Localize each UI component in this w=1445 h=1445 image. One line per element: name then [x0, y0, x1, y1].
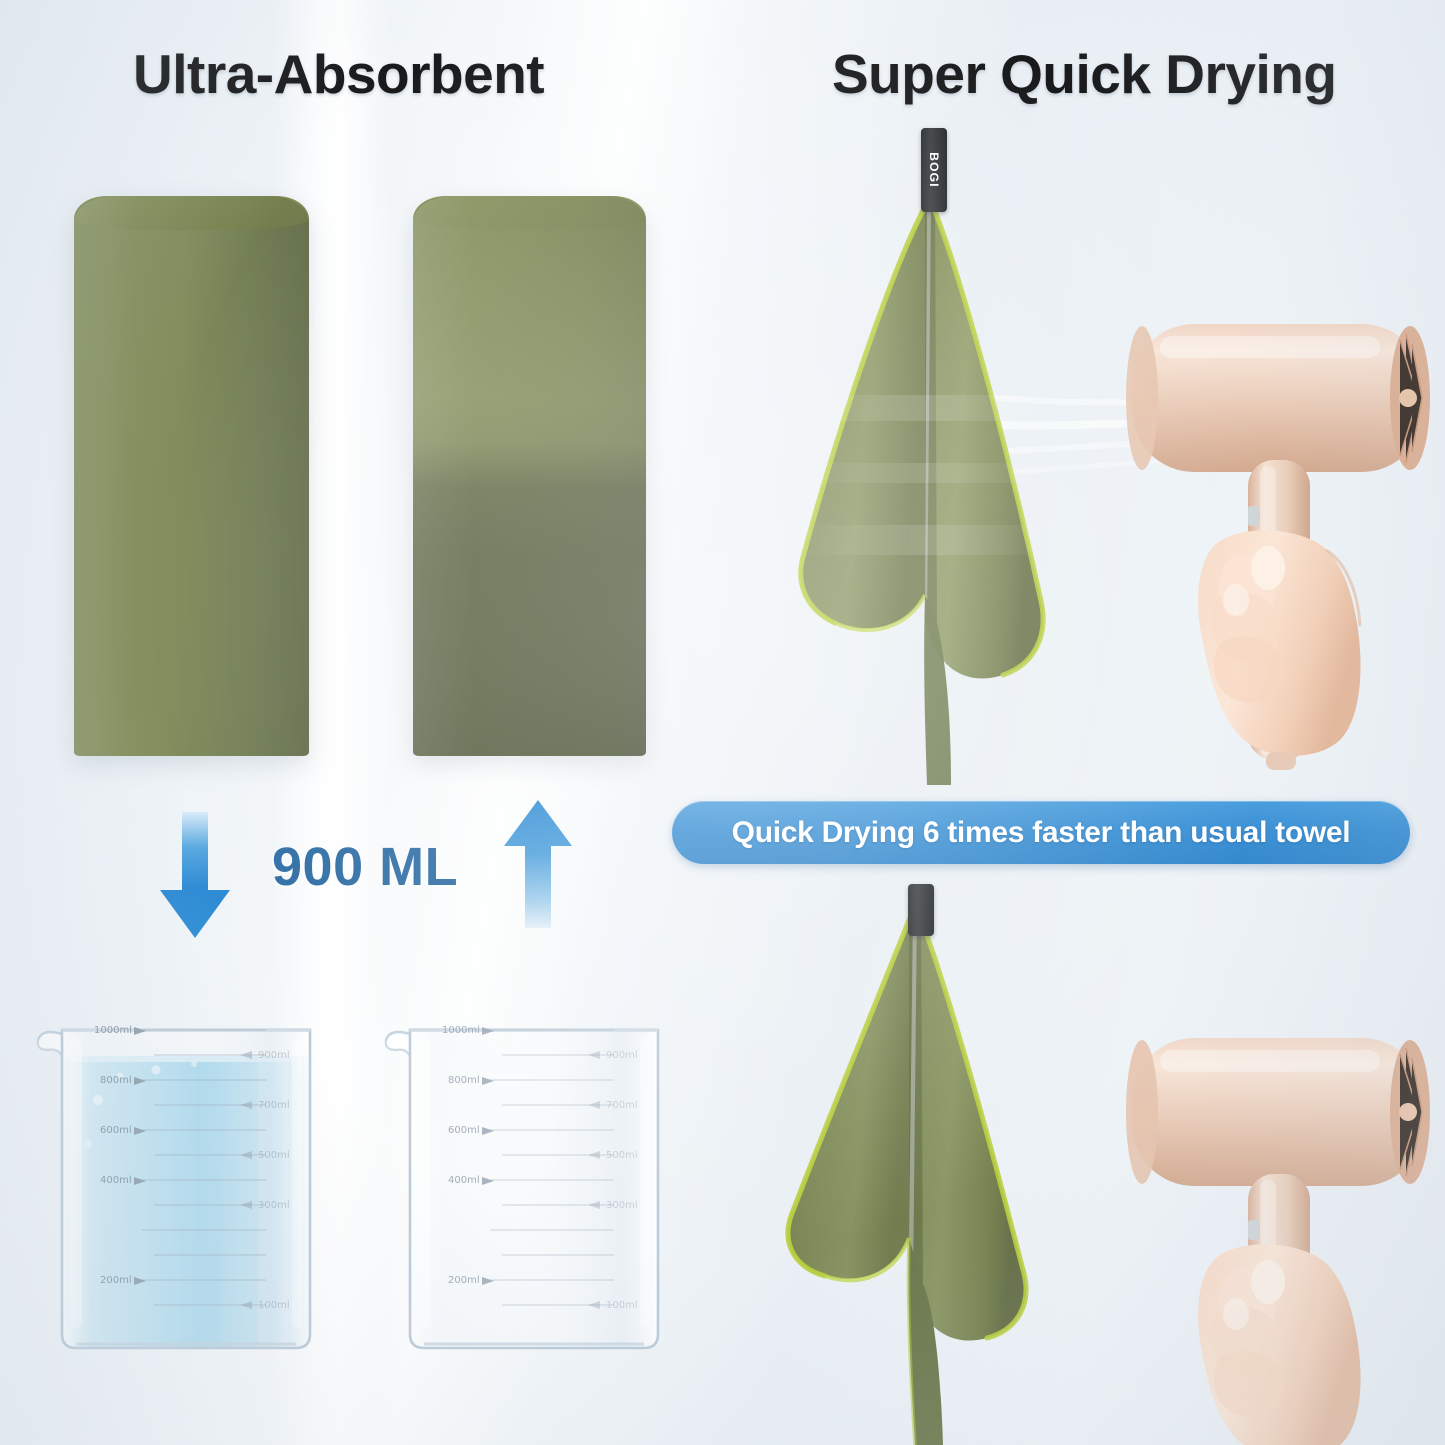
- towel-roll-sheen: [413, 196, 646, 756]
- wet-rolled-towel: [413, 196, 646, 756]
- page-title-ultra-absorbent: Ultra-Absorbent: [133, 42, 544, 106]
- svg-text:1000ml: 1000ml: [442, 1025, 480, 1036]
- up-arrow-icon: [503, 800, 573, 928]
- beaker-with-water: 1000ml 800ml 600ml 400ml 200ml 900ml 700…: [36, 1004, 336, 1354]
- hanging-microfiber-towel-top: [775, 125, 1105, 805]
- brand-hanging-tag: BOGI: [921, 128, 947, 212]
- capacity-label: 900 ML: [272, 836, 458, 898]
- infographic-canvas: Ultra-Absorbent Super Quick Drying: [0, 0, 1445, 1445]
- down-arrow-icon: [158, 812, 232, 938]
- svg-text:700ml: 700ml: [258, 1100, 290, 1111]
- hair-dryer-bottom: [1120, 1020, 1445, 1445]
- svg-text:800ml: 800ml: [100, 1075, 132, 1086]
- quick-drying-banner-text: Quick Drying 6 times faster than usual t…: [732, 816, 1351, 850]
- svg-text:300ml: 300ml: [258, 1200, 290, 1211]
- svg-text:600ml: 600ml: [448, 1125, 480, 1136]
- svg-text:400ml: 400ml: [100, 1175, 132, 1186]
- brand-hanging-tag-bottom: BOGI: [908, 884, 934, 936]
- svg-text:900ml: 900ml: [258, 1050, 290, 1061]
- svg-text:800ml: 800ml: [448, 1075, 480, 1086]
- towel-roll-sheen: [74, 196, 309, 756]
- svg-text:200ml: 200ml: [448, 1275, 480, 1286]
- svg-text:1000ml: 1000ml: [94, 1025, 132, 1036]
- svg-text:300ml: 300ml: [606, 1200, 638, 1211]
- dry-rolled-towel: [74, 196, 309, 756]
- svg-text:100ml: 100ml: [258, 1300, 290, 1311]
- hair-dryer-top: [1120, 300, 1445, 770]
- svg-text:900ml: 900ml: [606, 1050, 638, 1061]
- svg-text:500ml: 500ml: [606, 1150, 638, 1161]
- svg-text:200ml: 200ml: [100, 1275, 132, 1286]
- hanging-microfiber-towel-bottom: [775, 880, 1105, 1445]
- beaker-empty: 1000ml 800ml 600ml 400ml 200ml 900ml 700…: [384, 1004, 684, 1354]
- svg-text:600ml: 600ml: [100, 1125, 132, 1136]
- page-title-super-quick-drying: Super Quick Drying: [832, 42, 1336, 106]
- svg-text:400ml: 400ml: [448, 1175, 480, 1186]
- svg-text:700ml: 700ml: [606, 1100, 638, 1111]
- quick-drying-banner: Quick Drying 6 times faster than usual t…: [672, 801, 1410, 864]
- svg-text:500ml: 500ml: [258, 1150, 290, 1161]
- svg-text:100ml: 100ml: [606, 1300, 638, 1311]
- brand-tag-label: BOGI: [927, 152, 941, 187]
